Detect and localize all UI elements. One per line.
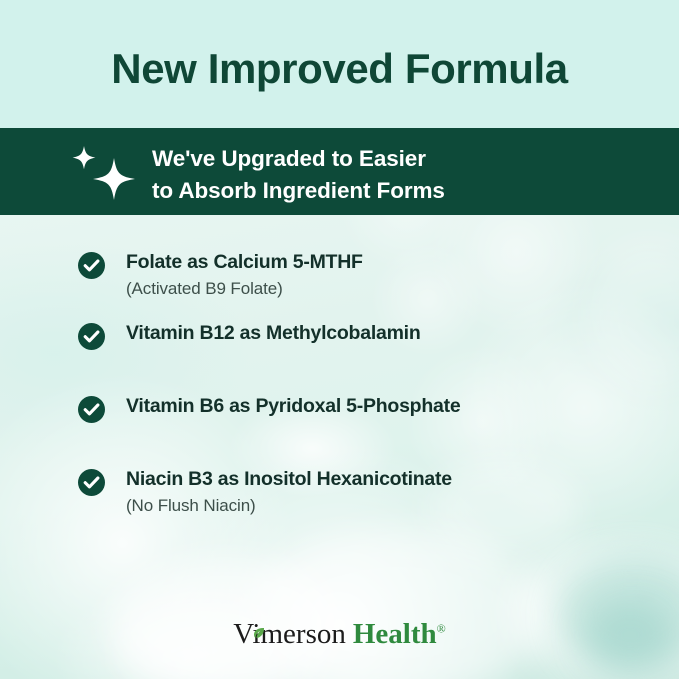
leaf-icon [253,616,265,628]
list-item: Vitamin B12 as Methylcobalamin [78,322,638,350]
ingredient-list: Folate as Calcium 5-MTHF (Activated B9 F… [78,251,638,538]
banner-line-1: We've Upgraded to Easier [152,143,445,175]
ingredient-name: Niacin B3 as Inositol Hexanicotinate [126,468,452,491]
product-infographic: New Improved Formula We've Upgraded to E… [0,0,679,679]
list-item: Folate as Calcium 5-MTHF (Activated B9 F… [78,251,638,300]
brand-name-first: Vimerson [233,620,346,649]
check-circle-icon [78,396,105,423]
ingredient-name: Folate as Calcium 5-MTHF [126,251,363,274]
check-circle-icon [78,469,105,496]
registered-trademark: ® [437,621,446,635]
ingredient-note: (Activated B9 Folate) [126,278,363,299]
ingredient-name: Vitamin B12 as Methylcobalamin [126,322,421,345]
check-circle-icon [78,323,105,350]
check-circle-icon [78,252,105,279]
banner-headline: We've Upgraded to Easier to Absorb Ingre… [152,143,445,207]
list-item: Vitamin B6 as Pyridoxal 5-Phosphate [78,395,638,423]
banner-line-2: to Absorb Ingredient Forms [152,175,445,207]
ingredient-note: (No Flush Niacin) [126,495,452,516]
brand-logo: VimersonHealth® [0,620,679,649]
ingredient-name: Vitamin B6 as Pyridoxal 5-Phosphate [126,395,460,418]
upgrade-banner: We've Upgraded to Easier to Absorb Ingre… [0,128,679,215]
list-item: Niacin B3 as Inositol Hexanicotinate (No… [78,468,638,517]
sparkle-icon [66,144,138,202]
brand-name-second: Health [353,618,437,650]
brand-name-first-text: Vimerson [233,618,346,650]
page-title: New Improved Formula [0,44,679,94]
